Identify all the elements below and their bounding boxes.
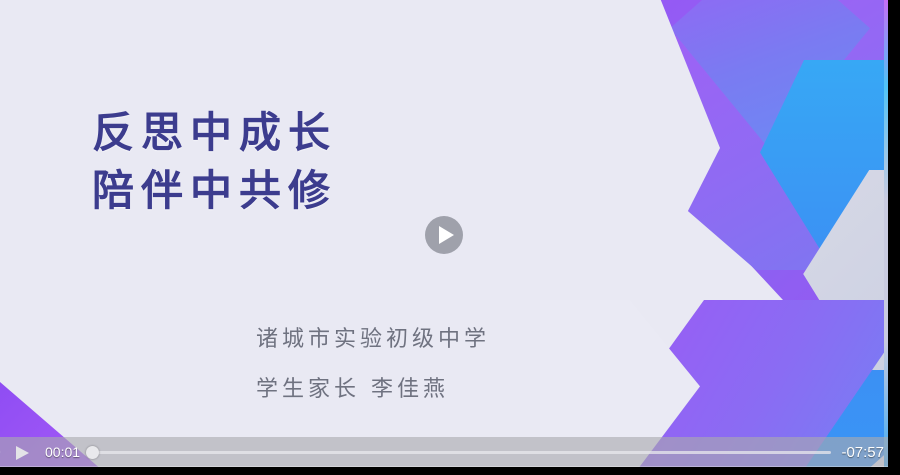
letterbox-bottom [0, 467, 900, 475]
video-frame[interactable]: 反思中成长 陪伴中共修 诸城市实验初级中学 学生家长 李佳燕 00:01 [0, 0, 888, 475]
play-pause-button[interactable] [7, 437, 41, 467]
seek-bar[interactable] [90, 437, 831, 467]
slide-subtitle: 诸城市实验初级中学 学生家长 李佳燕 [256, 315, 490, 415]
play-triangle-icon [439, 226, 454, 244]
speaker-volume-icon [0, 443, 7, 461]
seek-track[interactable] [90, 451, 831, 454]
slide-title: 反思中成长 陪伴中共修 [92, 104, 337, 220]
video-player[interactable]: 反思中成长 陪伴中共修 诸城市实验初级中学 学生家长 李佳燕 00:01 [0, 0, 900, 475]
letterbox-right [888, 0, 900, 475]
volume-button[interactable] [0, 437, 7, 467]
center-play-button[interactable] [425, 216, 463, 254]
seek-handle[interactable] [86, 446, 99, 459]
current-time-label: 00:01 [45, 444, 80, 460]
video-control-bar[interactable]: 00:01 -07:57 [0, 437, 888, 467]
remaining-time-label: -07:57 [841, 444, 884, 461]
play-icon [16, 446, 29, 460]
